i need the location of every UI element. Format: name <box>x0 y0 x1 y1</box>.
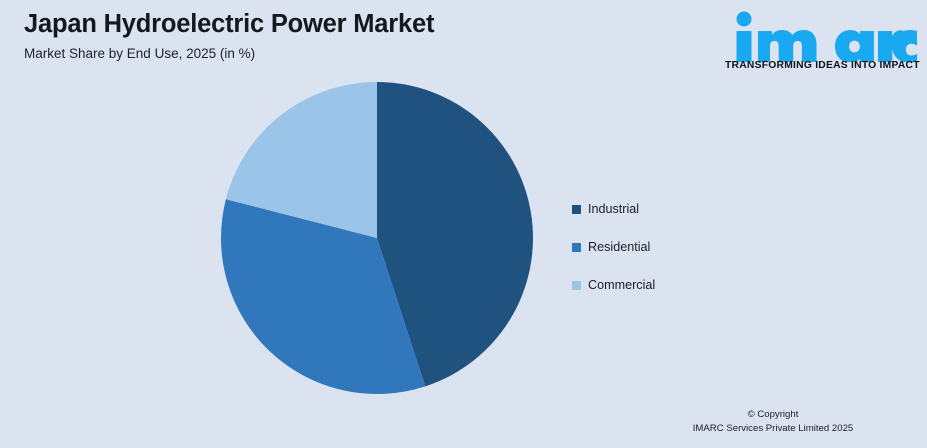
legend-label: Industrial <box>588 202 639 216</box>
legend-label: Residential <box>588 240 650 254</box>
legend-item-residential[interactable]: Residential <box>572 228 772 266</box>
pie-slice-group <box>221 82 533 394</box>
copyright-line-1: © Copyright <box>633 408 913 422</box>
header: Japan Hydroelectric Power Market Market … <box>24 8 664 64</box>
pie-chart-svg <box>221 82 533 394</box>
legend-item-commercial[interactable]: Commercial <box>572 266 772 304</box>
legend-swatch-icon <box>572 243 581 252</box>
legend-label: Commercial <box>588 278 655 292</box>
imarc-logo[interactable]: TRANSFORMING IDEAS INTO IMPACT <box>725 10 917 80</box>
logo-tagline: TRANSFORMING IDEAS INTO IMPACT <box>725 60 917 71</box>
chart-legend: Industrial Residential Commercial <box>572 190 772 304</box>
page-title: Japan Hydroelectric Power Market <box>24 8 664 40</box>
legend-item-industrial[interactable]: Industrial <box>572 190 772 228</box>
copyright-line-2: IMARC Services Private Limited 2025 <box>633 422 913 436</box>
copyright-footer: © Copyright IMARC Services Private Limit… <box>633 408 913 436</box>
page-subtitle: Market Share by End Use, 2025 (in %) <box>24 44 664 64</box>
imarc-wordmark-icon <box>725 10 917 62</box>
pie-chart <box>221 82 533 394</box>
chart-page: Japan Hydroelectric Power Market Market … <box>0 0 927 448</box>
legend-swatch-icon <box>572 205 581 214</box>
legend-swatch-icon <box>572 281 581 290</box>
